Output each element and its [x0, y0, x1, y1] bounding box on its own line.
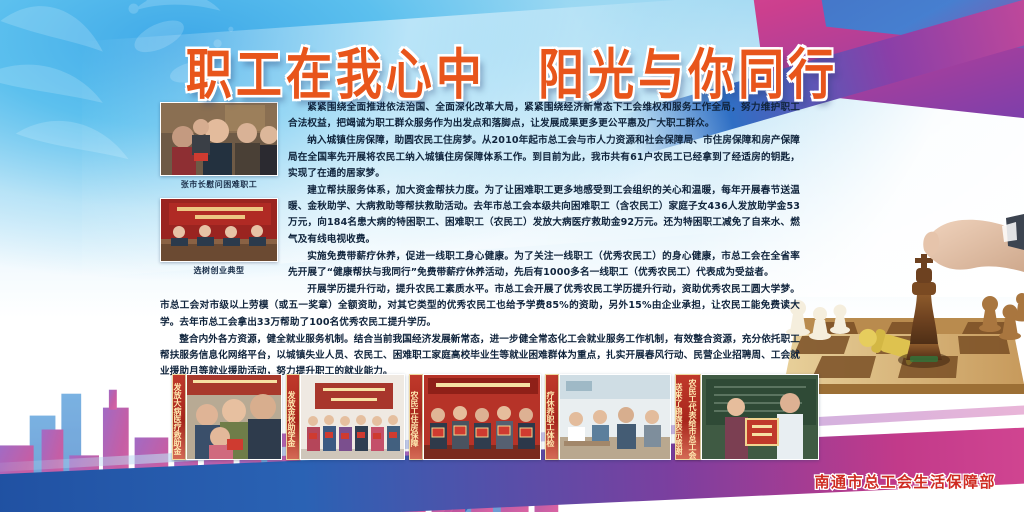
poster-canvas: 职工在我心中 阳光与你同行 张市长慰问困难职工: [0, 0, 1024, 512]
photo-mayor-visit: [160, 102, 278, 176]
strip-item-medical-aid: 发放大病医疗救助金: [172, 374, 282, 460]
headline-left: 职工在我心中: [186, 32, 486, 110]
hand-placing-piece: [923, 214, 1024, 272]
photo-caption-mayor-visit: 张市长慰问困难职工: [160, 179, 278, 190]
strip-caption-autumn-scholarship: 发放金秋助学金: [286, 374, 300, 460]
strip-item-health-checkup: 疗休养职工体检: [545, 374, 671, 460]
strip-caption-migrant-housing: 农民工住房保障: [409, 374, 423, 460]
strip-photo-migrant-housing: [423, 374, 541, 460]
strip-caption-health-checkup: 疗休养职工体检: [545, 374, 559, 460]
paragraph-5: 开展学历提升行动，提升农民工素质水平。市总工会开展了优秀农民工学历提升行动，资助…: [160, 282, 800, 331]
strip-photo-autumn-scholarship: [300, 374, 405, 460]
strip-item-banner-thanks: 农民工代表给市总工会送来了锦旗表示感谢 表为向市总工会主席、党组书记赠送锦旗: [675, 374, 819, 460]
photo-entrepreneur-meeting: [160, 198, 278, 262]
strip-item-migrant-housing: 农民工住房保障: [409, 374, 541, 460]
photo-caption-entrepreneur-meeting: 选树创业典型: [160, 265, 278, 276]
chess-board-photo: [784, 122, 1024, 452]
strip-caption-medical-aid: 发放大病医疗救助金: [172, 374, 186, 460]
side-photo-column: 张市长慰问困难职工 选树: [160, 102, 278, 284]
department-signature: 南通市总工会生活保障部: [814, 471, 996, 492]
strip-photo-medical-aid: [186, 374, 282, 460]
strip-photo-banner-thanks: [701, 374, 819, 460]
strip-item-autumn-scholarship: 发放金秋助学金: [286, 374, 405, 460]
headline-right: 阳光与你同行: [538, 32, 838, 110]
strip-photo-health-checkup: [559, 374, 671, 460]
page-title: 职工在我心中 阳光与你同行: [0, 38, 1024, 104]
bottom-photo-strip: 发放大病医疗救助金 发放金秋助学金: [172, 374, 817, 460]
article-content: 张市长慰问困难职工 选树: [160, 100, 800, 381]
strip-caption-banner-thanks: 农民工代表给市总工会送来了锦旗表示感谢 表为向市总工会主席、党组书记赠送锦旗: [675, 374, 701, 460]
